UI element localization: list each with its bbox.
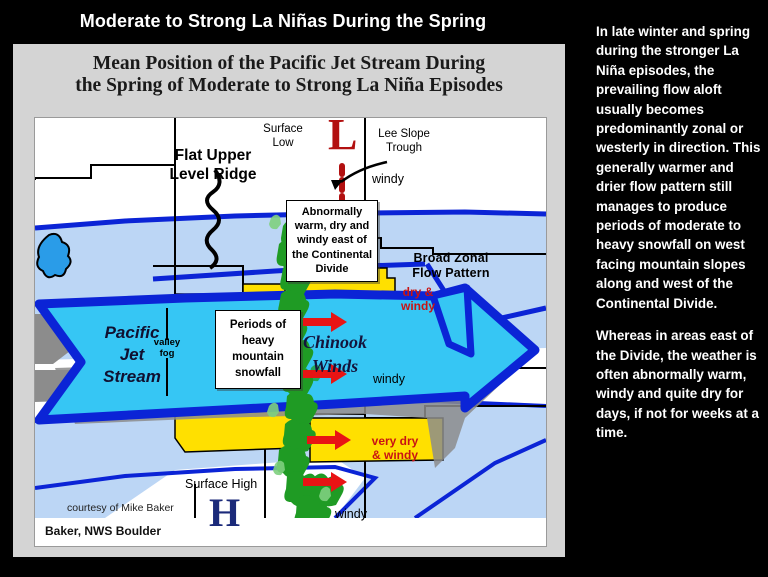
label-flat-ridge-line-2: Level Ridge xyxy=(170,166,257,183)
label-broad-zonal-flow: Broad Zonal Flow Pattern xyxy=(385,251,517,280)
figure-heading-line-1: Mean Position of the Pacific Jet Stream … xyxy=(93,53,485,74)
label-valley-fog: valley fog xyxy=(147,337,187,359)
label-chinook-line-1: Chinook xyxy=(303,332,367,352)
label-very-dry-line-1: very dry xyxy=(372,434,419,448)
label-windy-north: windy xyxy=(372,173,404,186)
label-dry-windy-line-2: windy xyxy=(401,299,435,313)
label-chinook-winds: Chinook Winds xyxy=(289,330,381,378)
label-dry-windy-line-1: dry & xyxy=(403,285,434,299)
label-credit: Baker, NWS Boulder xyxy=(45,525,161,538)
callout-heavy-snowfall: Periods of heavy mountain snowfall xyxy=(215,310,301,389)
label-dry-and-windy: dry & windy xyxy=(389,285,447,313)
label-lee-slope-line-1: Lee Slope xyxy=(378,128,430,140)
label-flat-ridge-line-1: Flat Upper xyxy=(175,147,252,164)
label-valley-fog-line-2: fog xyxy=(160,348,175,359)
label-courtesy: courtesy of Mike Baker xyxy=(67,503,174,514)
label-broad-zonal-line-2: Flow Pattern xyxy=(412,266,489,280)
label-pjs-line-3: Stream xyxy=(103,367,161,386)
label-pjs-line-2: Jet xyxy=(120,345,145,364)
surface-low-symbol: L xyxy=(328,117,357,159)
figure-panel: Mean Position of the Pacific Jet Stream … xyxy=(13,44,565,557)
label-very-dry-line-2: & windy xyxy=(372,448,418,462)
map-figure: Flat Upper Level Ridge Surface Low L Lee… xyxy=(34,117,547,547)
narrative-paragraph-1: In late winter and spring during the str… xyxy=(596,22,766,313)
label-broad-zonal-line-1: Broad Zonal xyxy=(413,251,488,265)
label-surface-low-line-2: Low xyxy=(272,137,293,149)
label-flat-upper-level-ridge: Flat Upper Level Ridge xyxy=(143,146,283,184)
label-windy-south: windy xyxy=(335,508,367,521)
surface-high-symbol: H xyxy=(209,492,240,534)
label-chinook-line-2: Winds xyxy=(312,356,358,376)
label-surface-low: Surface Low xyxy=(250,123,316,150)
label-valley-fog-line-1: valley xyxy=(154,337,180,348)
label-lee-slope-line-2: Trough xyxy=(386,142,422,154)
callout-abnormally-warm: Abnormally warm, dry and windy east of t… xyxy=(286,200,378,282)
label-surface-low-line-1: Surface xyxy=(263,123,303,135)
narrative-text: In late winter and spring during the str… xyxy=(596,22,766,443)
label-very-dry-and-windy: very dry & windy xyxy=(353,434,437,462)
narrative-paragraph-2: Whereas in areas east of the Divide, the… xyxy=(596,326,766,442)
label-lee-slope-trough: Lee Slope Trough xyxy=(362,128,446,155)
figure-heading-line-2: the Spring of Moderate to Strong La Niña… xyxy=(75,75,503,96)
slide-root: Moderate to Strong La Niñas During the S… xyxy=(0,0,768,577)
slide-title: Moderate to Strong La Niñas During the S… xyxy=(0,6,566,36)
figure-heading: Mean Position of the Pacific Jet Stream … xyxy=(21,53,557,97)
